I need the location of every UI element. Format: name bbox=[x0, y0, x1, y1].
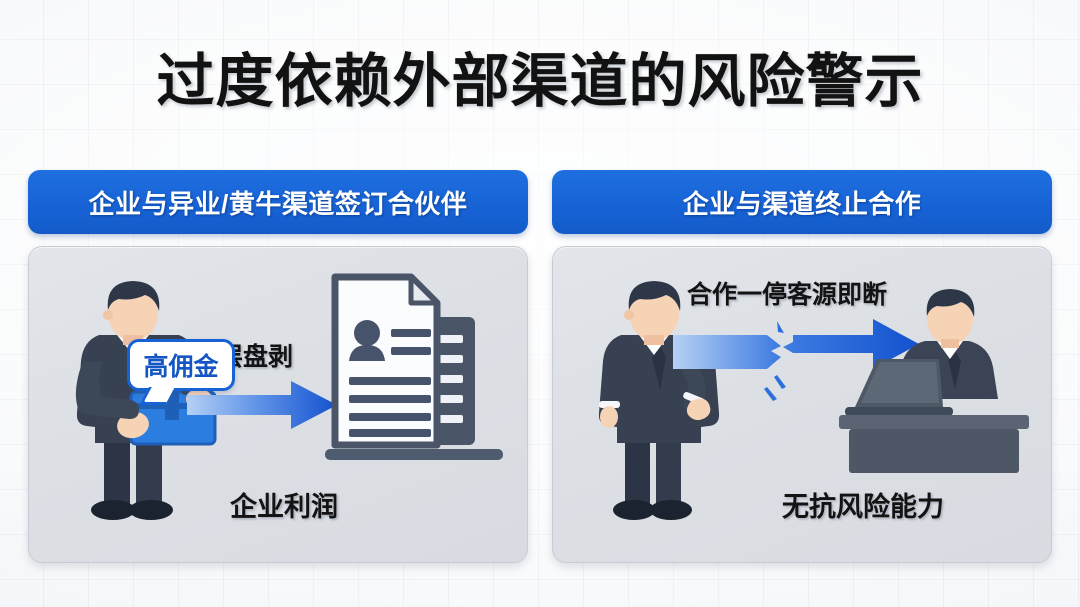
commission-speech-bubble: 高佣金 bbox=[127, 339, 235, 391]
column-left: 企业与异业/黄牛渠道签订合伙伴 bbox=[28, 170, 528, 563]
column-right-header: 企业与渠道终止合作 bbox=[552, 170, 1052, 234]
column-right-panel: 合作一停客源即断 bbox=[552, 246, 1052, 563]
column-right: 企业与渠道终止合作 bbox=[552, 170, 1052, 563]
column-left-header: 企业与异业/黄牛渠道签订合伙伴 bbox=[28, 170, 528, 234]
document-resume-figure bbox=[325, 269, 505, 469]
commission-bubble-text: 高佣金 bbox=[143, 347, 218, 383]
page-title: 过度依赖外部渠道的风险警示 bbox=[0, 34, 1080, 118]
person-at-desk-with-laptop-figure bbox=[839, 283, 1029, 473]
right-panel-caption: 无抗风险能力 bbox=[683, 485, 1043, 524]
left-panel-caption: 企业利润 bbox=[104, 485, 464, 524]
column-left-panel: 高佣金 层层盘剥 bbox=[28, 246, 528, 563]
